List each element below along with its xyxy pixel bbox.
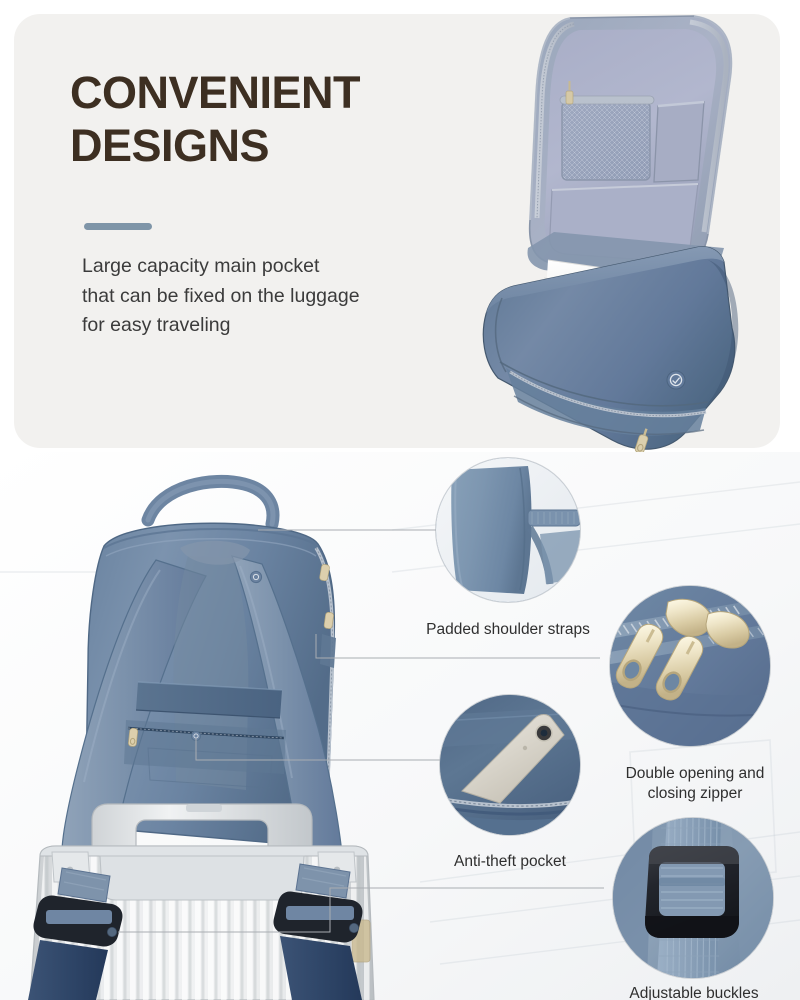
infographic-page: CONVENIENT DESIGNS Large capacity main p… bbox=[0, 0, 800, 1000]
feature-callout-section: Padded shoulder straps bbox=[0, 452, 800, 1000]
callout-padded-shoulder-straps bbox=[436, 458, 580, 602]
callout-label-double-opening-closing-zipper: Double opening and closing zipper bbox=[600, 764, 790, 804]
title-divider bbox=[84, 223, 152, 230]
callout-anti-theft-pocket bbox=[440, 695, 580, 835]
headline-line-1: CONVENIENT bbox=[70, 67, 360, 118]
description-line-1: Large capacity main pocket bbox=[82, 252, 432, 282]
page-title: CONVENIENT DESIGNS bbox=[70, 66, 490, 172]
callout-double-opening-closing-zipper bbox=[610, 586, 770, 746]
description-line-3: for easy traveling bbox=[82, 311, 432, 341]
description-line-2: that can be fixed on the luggage bbox=[82, 282, 432, 312]
callout-label-adjustable-buckles: Adjustable buckles bbox=[598, 984, 790, 1000]
callout-label-padded-shoulder-straps: Padded shoulder straps bbox=[412, 620, 604, 640]
callout-adjustable-buckles bbox=[613, 818, 773, 978]
open-backpack-image bbox=[462, 10, 800, 490]
headline-line-2: DESIGNS bbox=[70, 119, 490, 172]
card-description: Large capacity main pocket that can be f… bbox=[82, 252, 432, 341]
callout-label-anti-theft-pocket: Anti-theft pocket bbox=[418, 852, 602, 872]
